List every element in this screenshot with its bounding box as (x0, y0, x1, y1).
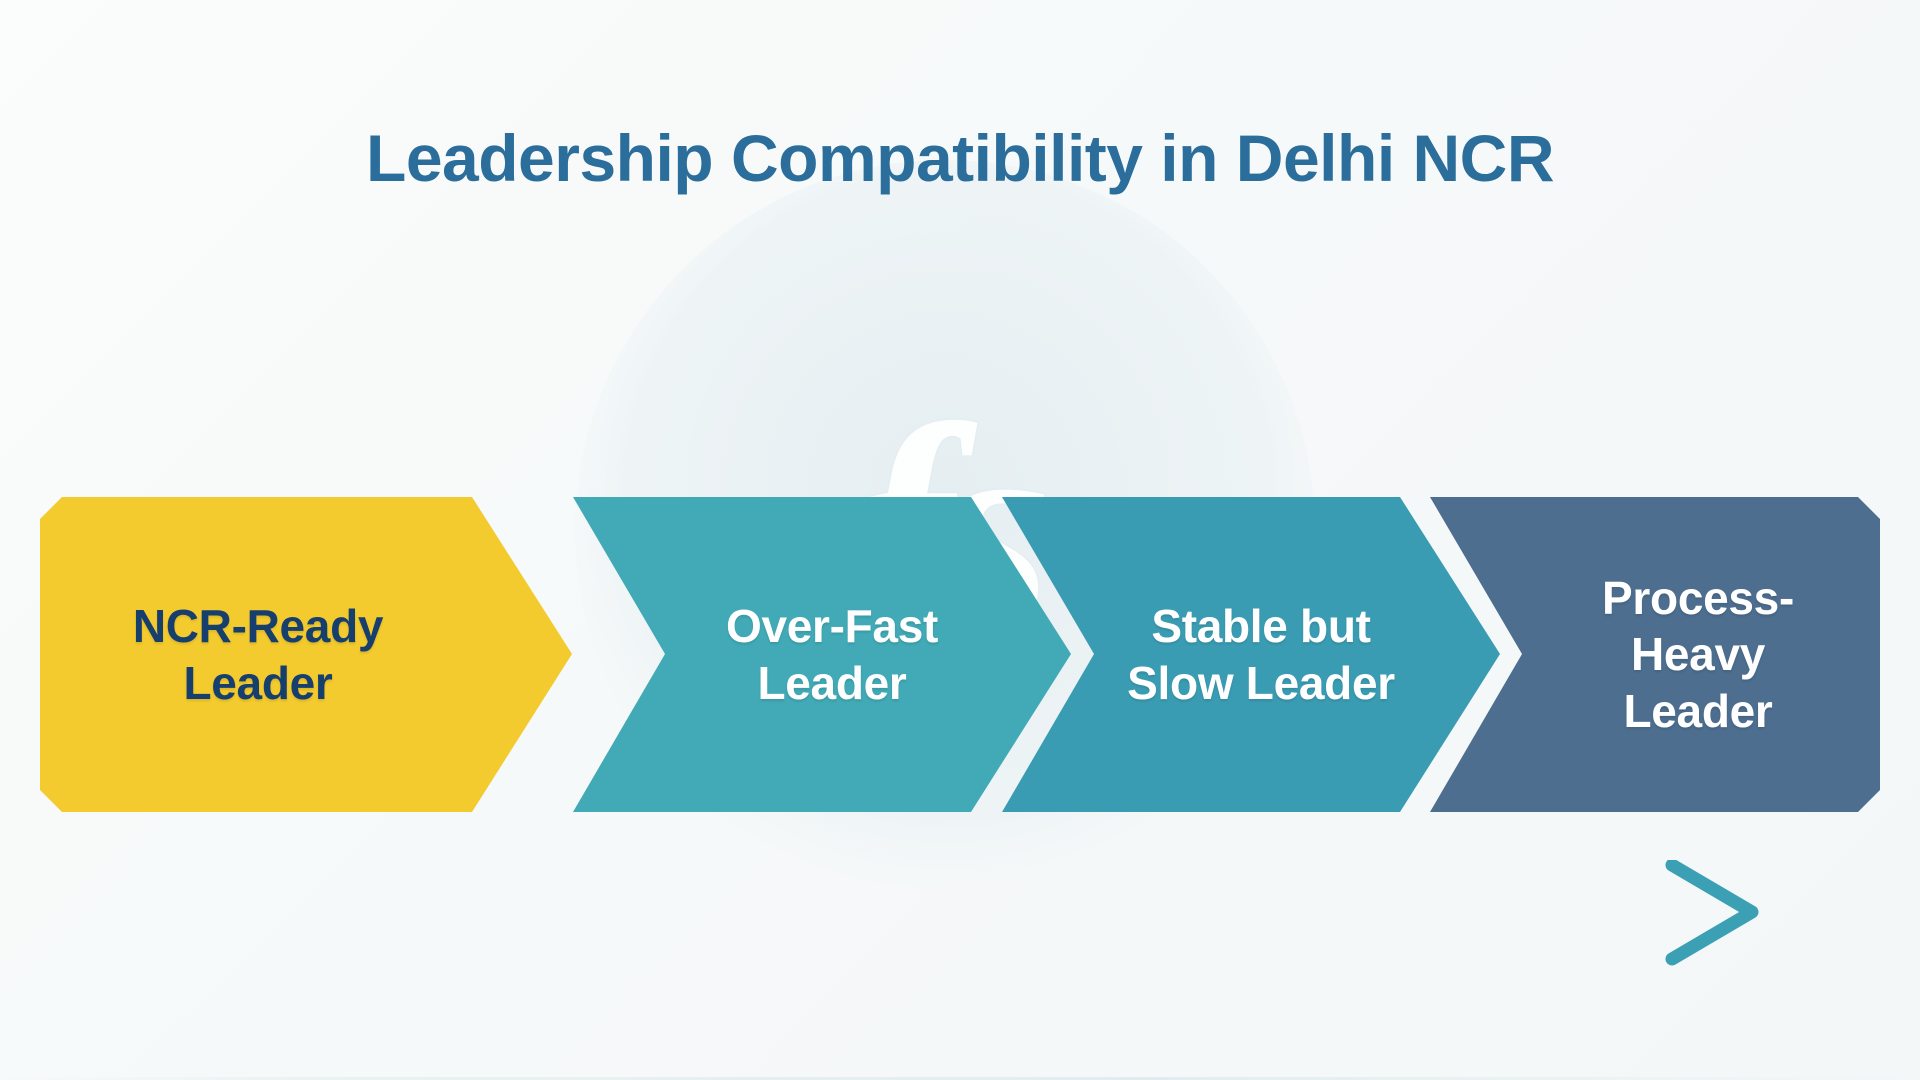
flow-step-label: NCR-Ready Leader (133, 598, 383, 710)
flow-step-label: Stable but Slow Leader (1127, 598, 1395, 710)
progress-right-arrow-icon (440, 860, 1800, 970)
infographic-canvas: fs Leadership Compatibility in Delhi NCR… (0, 0, 1920, 1080)
page-title: Leadership Compatibility in Delhi NCR (0, 120, 1920, 196)
flow-step-label: Process- Heavy Leader (1602, 570, 1794, 738)
flow-step-ncr-ready-leader[interactable]: NCR-Ready Leader (40, 497, 572, 812)
process-flow: NCR-Ready Leader Over-Fast Leader Stable… (0, 497, 1920, 812)
flow-step-stable-but-slow-leader[interactable]: Stable but Slow Leader (1002, 497, 1522, 812)
flow-step-label: Over-Fast Leader (726, 598, 938, 710)
flow-step-over-fast-leader[interactable]: Over-Fast Leader (573, 497, 1093, 812)
